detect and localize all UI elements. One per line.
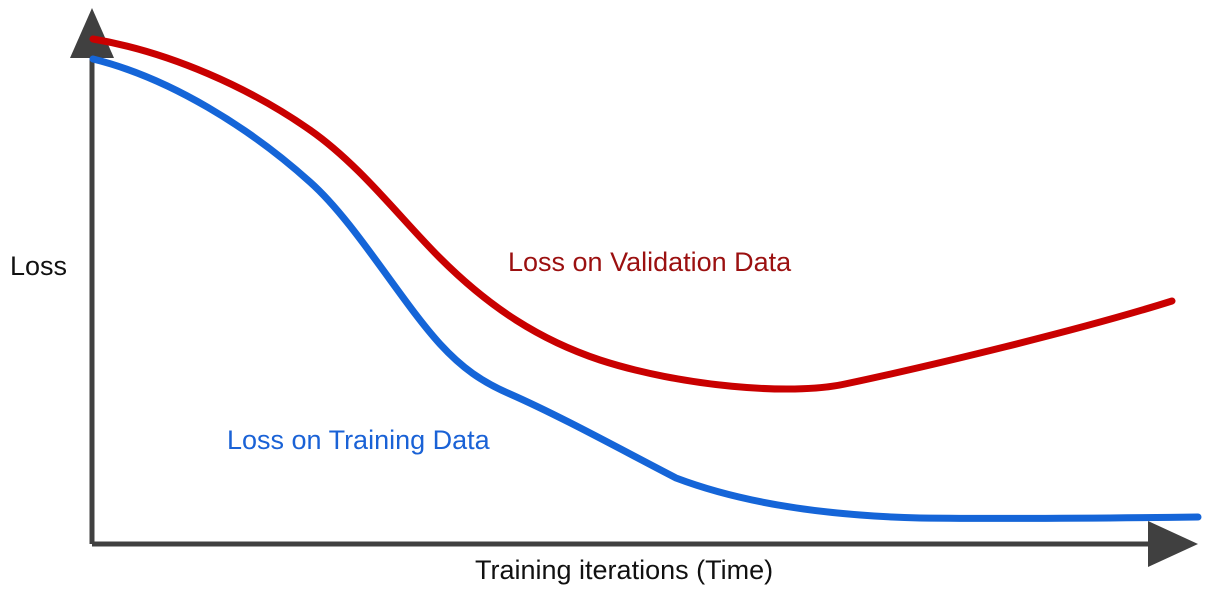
validation-loss-curve bbox=[93, 39, 1172, 389]
loss-curves-plot bbox=[0, 0, 1206, 591]
x-axis-arrowhead-icon bbox=[1148, 521, 1198, 567]
y-axis-arrowhead-icon bbox=[70, 8, 114, 58]
y-axis-title: Loss bbox=[10, 253, 67, 280]
x-axis-title: Training iterations (Time) bbox=[475, 557, 773, 584]
training-series-label: Loss on Training Data bbox=[227, 427, 490, 454]
chart-canvas: Loss Training iterations (Time) Loss on … bbox=[0, 0, 1206, 591]
validation-series-label: Loss on Validation Data bbox=[508, 249, 791, 276]
